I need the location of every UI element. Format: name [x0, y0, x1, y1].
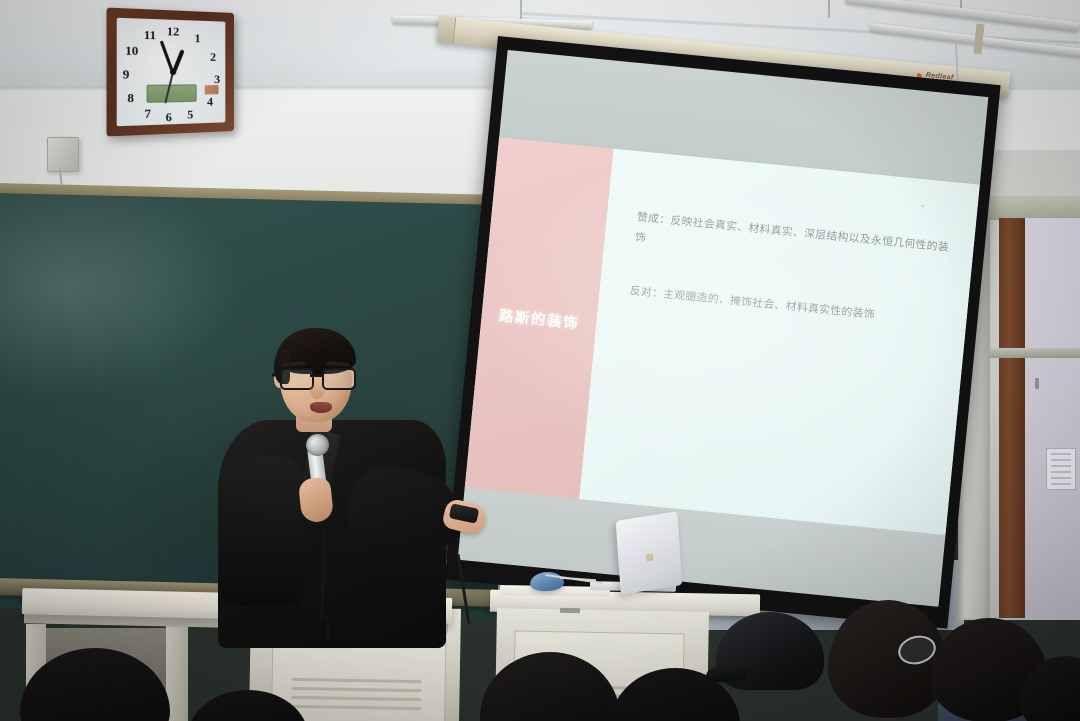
glasses-lens-left	[280, 368, 314, 390]
door-wood-frame	[999, 218, 1025, 618]
light-rod	[520, 0, 522, 20]
door-mid-rail	[990, 348, 1080, 358]
presenter-left-arm	[218, 456, 304, 606]
screen-housing-endcap	[437, 16, 456, 44]
wall-speaker-box	[47, 137, 79, 172]
slide-speck	[921, 205, 923, 207]
clock-numeral-8: 8	[127, 91, 134, 104]
glasses-bridge	[310, 374, 324, 377]
projection-screen: 路斯的装饰 赞成：反映社会真实、材料真实、深层结构以及永恒几何性的装饰 反对：主…	[445, 36, 1001, 629]
classroom-photo-scene: 12 1 2 3 4 5 6 7 8 9 10 11	[0, 0, 1080, 721]
slide-body-panel: 赞成：反映社会真实、材料真实、深层结构以及永恒几何性的装饰 反对：主观臆造的、掩…	[579, 149, 980, 535]
presentation-slide: 路斯的装饰 赞成：反映社会真实、材料真实、深层结构以及永恒几何性的装饰 反对：主…	[465, 138, 980, 535]
clock-numeral-5: 5	[187, 108, 193, 121]
clock-numeral-4: 4	[207, 95, 213, 107]
presenter-laptop[interactable]	[616, 511, 683, 595]
clock-numeral-10: 10	[125, 44, 138, 57]
clock-numeral-1: 1	[195, 32, 201, 44]
clock-numeral-2: 2	[210, 51, 216, 63]
projection-surface: 路斯的装饰 赞成：反映社会真实、材料真实、深层结构以及永恒几何性的装饰 反对：主…	[458, 50, 989, 607]
door-notice	[1046, 448, 1076, 490]
slide-paragraph-pro: 赞成：反映社会真实、材料真实、深层结构以及永恒几何性的装饰	[634, 207, 950, 277]
laptop-logo-icon	[646, 554, 653, 562]
cabinet-vents	[291, 678, 422, 716]
podium-latch[interactable]	[560, 608, 580, 613]
slide-paragraph-con: 反对：主观臆造的、掩饰社会、材料真实性的装饰	[629, 281, 943, 332]
clock-numeral-11: 11	[144, 28, 156, 41]
presenter-mouth	[310, 402, 332, 413]
shoulder-cable	[457, 554, 470, 624]
presenter-nose	[310, 382, 324, 399]
wall-clock: 12 1 2 3 4 5 6 7 8 9 10 11	[107, 8, 234, 137]
ceiling-wall-seam	[0, 86, 520, 90]
clock-numeral-6: 6	[166, 111, 172, 124]
glasses-lens-right	[322, 368, 356, 390]
door-handle[interactable]	[1035, 378, 1039, 389]
clock-numeral-3: 3	[214, 73, 220, 85]
clock-date-window	[147, 84, 197, 103]
clock-brand-mark	[205, 85, 218, 94]
light-rod	[828, 0, 830, 18]
presenter-speaker	[200, 320, 520, 640]
clock-center-hub	[170, 69, 176, 75]
classroom-door[interactable]	[1025, 218, 1080, 618]
clock-face: 12 1 2 3 4 5 6 7 8 9 10 11	[117, 18, 226, 127]
clock-numeral-12: 12	[167, 25, 180, 38]
clock-numeral-9: 9	[123, 68, 130, 81]
clock-numeral-7: 7	[144, 107, 150, 120]
